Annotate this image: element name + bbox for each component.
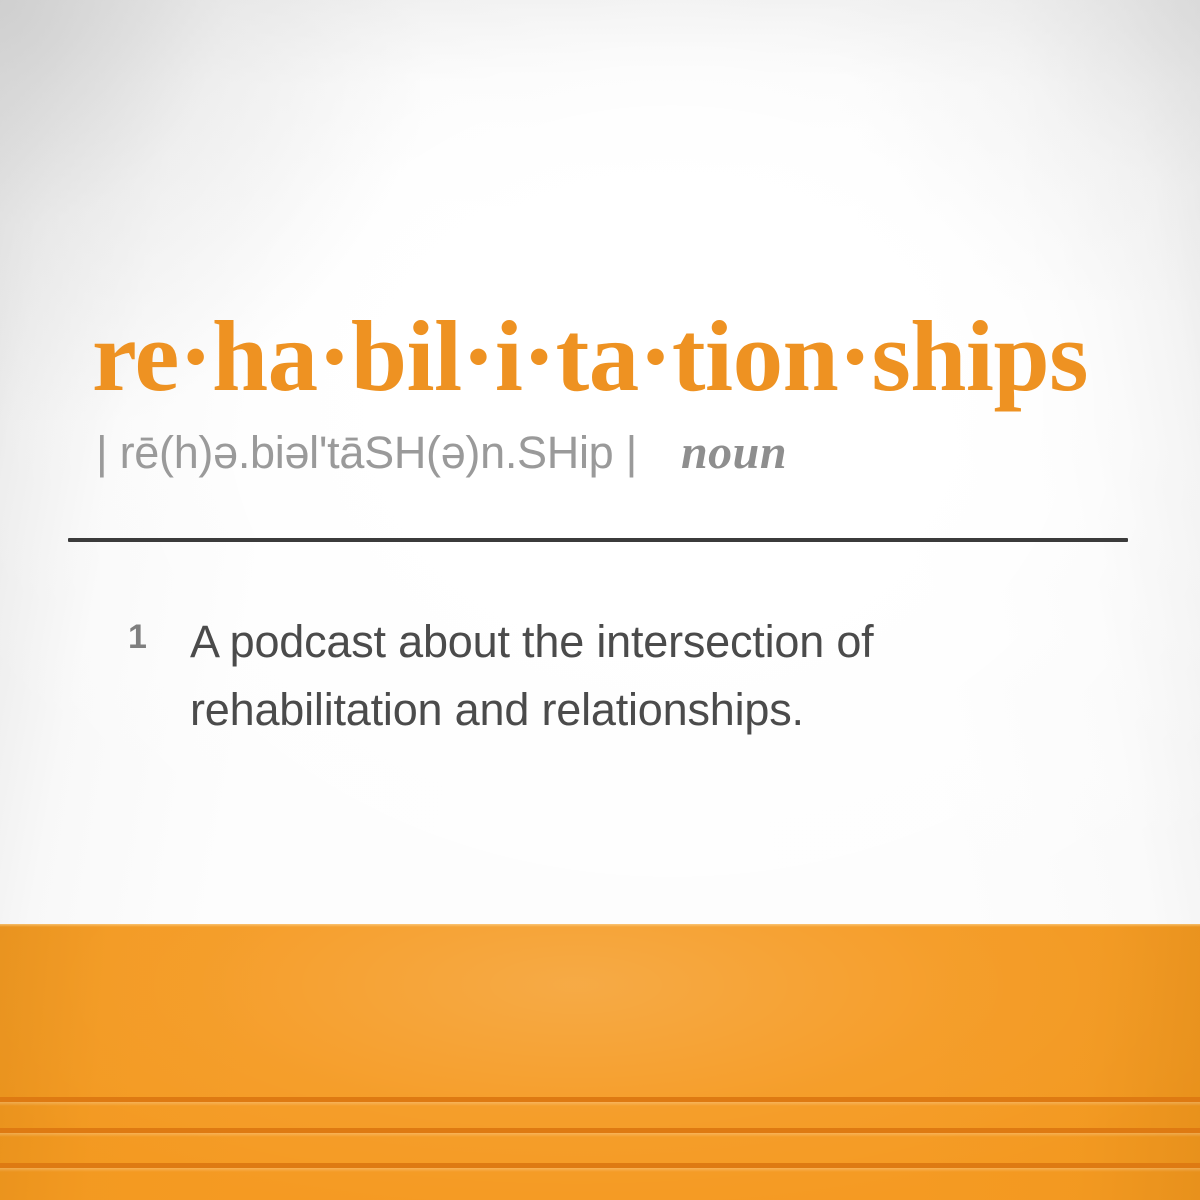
definition-text: A podcast about the intersection of reha… (190, 608, 1020, 745)
band-highlight-sheen (0, 924, 1200, 1200)
headword-title: re·ha·bil·i·ta·tion·ships (92, 306, 1132, 407)
horizontal-divider (68, 538, 1128, 542)
band-rule-line-2 (0, 1128, 1200, 1133)
band-rule-line-3 (0, 1163, 1200, 1168)
podcast-cover-poster: re·ha·bil·i·ta·tion·ships | rē(h)ə.biəl'… (0, 0, 1200, 1200)
band-rule-line-1 (0, 1097, 1200, 1102)
definition-number: 1 (128, 608, 162, 654)
part-of-speech-label: noun (681, 425, 787, 480)
band-top-edge-highlight (0, 924, 1200, 927)
definition-entry: 1 A podcast about the intersection of re… (128, 608, 1058, 745)
pronunciation-row: | rē(h)ə.biəl'tāSH(ə)n.SHip | noun (96, 425, 787, 480)
orange-footer-band (0, 924, 1200, 1200)
pronunciation-text: | rē(h)ə.biəl'tāSH(ə)n.SHip | (96, 427, 637, 479)
